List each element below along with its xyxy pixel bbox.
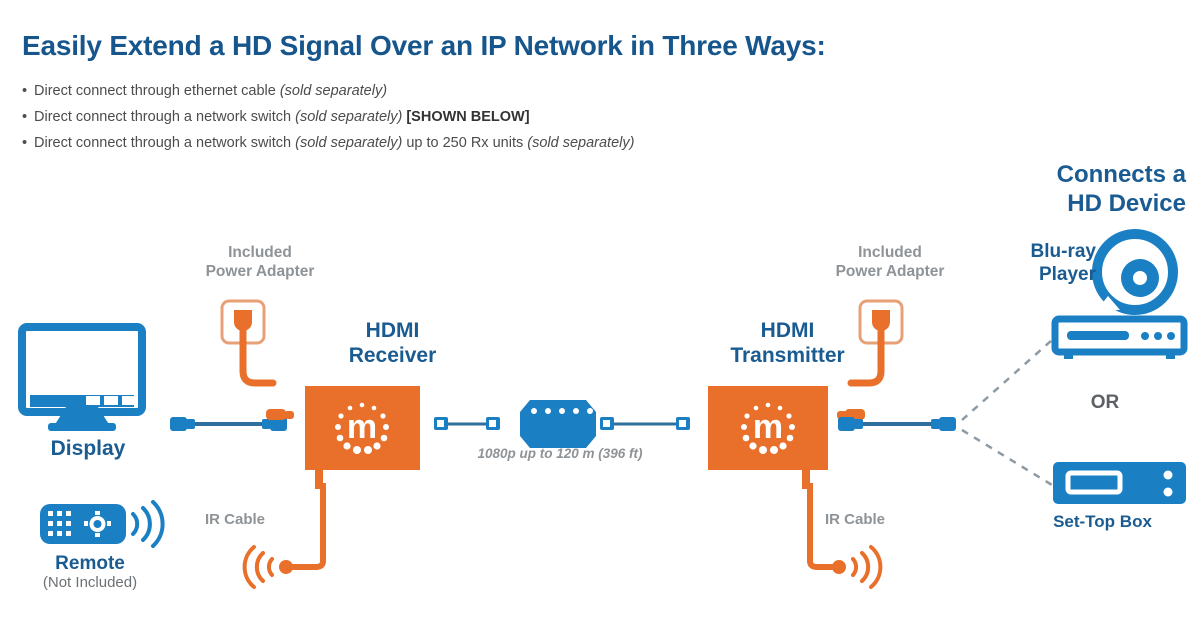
hdmi-transmitter-label-line2: Transmitter	[690, 343, 885, 368]
connects-heading: Connects a HD Device	[966, 160, 1186, 218]
bullet-dot: •	[22, 78, 34, 104]
remote-control-icon	[40, 502, 163, 546]
list-item: •Direct connect through a network switch…	[22, 130, 1022, 156]
bullet-dot: •	[22, 104, 34, 130]
power-adapter-left-label: Included Power Adapter	[190, 243, 330, 281]
bullet-list: •Direct connect through ethernet cable (…	[22, 78, 1022, 156]
hdmi-transmitter-box: m	[708, 386, 828, 470]
ethernet-cable-switch-to-transmitter	[600, 417, 690, 430]
list-item: •Direct connect through ethernet cable (…	[22, 78, 1022, 104]
display-label: Display	[18, 437, 158, 461]
power-adapter-left-icon	[222, 301, 294, 420]
power-adapter-right-label-line2: Power Adapter	[820, 262, 960, 281]
page-title: Easily Extend a HD Signal Over an IP Net…	[22, 30, 826, 62]
monitor-icon	[22, 327, 142, 431]
hdmi-receiver-label-line2: Receiver	[300, 343, 485, 368]
bluray-player-label-line1: Blu-ray	[1006, 240, 1096, 263]
remote-sublabel: (Not Included)	[10, 574, 170, 591]
manhattan-m-logo: m	[741, 403, 795, 454]
hdmi-cable-display-to-receiver	[170, 417, 287, 431]
bullet-text-plain: Direct connect through a network switch	[34, 109, 295, 125]
ir-cable-right	[802, 470, 880, 587]
connects-heading-line2: HD Device	[966, 189, 1186, 218]
power-adapter-left-label-line2: Power Adapter	[190, 262, 330, 281]
diagram-canvas: Easily Extend a HD Signal Over an IP Net…	[0, 0, 1200, 630]
power-adapter-left-label-line1: Included	[190, 243, 330, 262]
ir-cable-right-label: IR Cable	[825, 511, 935, 528]
set-top-box-icon	[1053, 462, 1186, 504]
manhattan-m-logo: m	[335, 403, 389, 454]
network-switch-icon	[520, 400, 596, 448]
bluray-player-label-line2: Player	[1006, 263, 1096, 286]
bullet-text-italic: (sold separately)	[280, 83, 387, 99]
ir-signal-waves-icon	[853, 547, 880, 587]
ir-cable-left-label: IR Cable	[205, 511, 315, 528]
power-adapter-right-label: Included Power Adapter	[820, 243, 960, 281]
svg-text:m: m	[753, 408, 783, 446]
bullet-text-italic: (sold separately)	[295, 109, 402, 125]
hdmi-receiver-label-line1: HDMI	[300, 318, 485, 343]
ir-signal-waves-icon	[245, 547, 272, 587]
or-label: OR	[1075, 392, 1135, 414]
bullet-text-plain-2: up to 250 Rx units	[402, 135, 527, 151]
bluray-disc-icon	[1097, 234, 1173, 310]
bullet-text-bold: [SHOWN BELOW]	[406, 109, 529, 125]
bullet-text-plain: Direct connect through ethernet cable	[34, 83, 280, 99]
power-adapter-right-label-line1: Included	[820, 243, 960, 262]
bullet-text-italic: (sold separately)	[295, 135, 402, 151]
hdmi-receiver-box: m	[305, 386, 420, 470]
bullet-text-plain: Direct connect through a network switch	[34, 135, 295, 151]
remote-label: Remote	[10, 553, 170, 574]
bluray-player-label: Blu-ray Player	[1006, 240, 1096, 286]
hdmi-transmitter-label: HDMI Transmitter	[690, 318, 885, 368]
bullet-dot: •	[22, 130, 34, 156]
hdmi-transmitter-label-line1: HDMI	[690, 318, 885, 343]
ethernet-cable-receiver-to-switch	[434, 417, 500, 430]
cable-spec-label: 1080p up to 120 m (396 ft)	[440, 446, 680, 461]
bullet-text-italic-2: (sold separately)	[527, 135, 634, 151]
ir-cable-left	[245, 470, 323, 587]
connects-heading-line1: Connects a	[966, 160, 1186, 189]
list-item: •Direct connect through a network switch…	[22, 104, 1022, 130]
hdmi-receiver-label: HDMI Receiver	[300, 318, 485, 368]
svg-text:m: m	[347, 408, 377, 446]
hdmi-cable-transmitter-to-devices	[838, 417, 956, 431]
bluray-player-icon	[1055, 319, 1184, 359]
set-top-box-label: Set-Top Box	[1020, 512, 1185, 532]
signal-waves-icon	[133, 502, 163, 546]
dashed-connection-lines	[962, 340, 1052, 485]
